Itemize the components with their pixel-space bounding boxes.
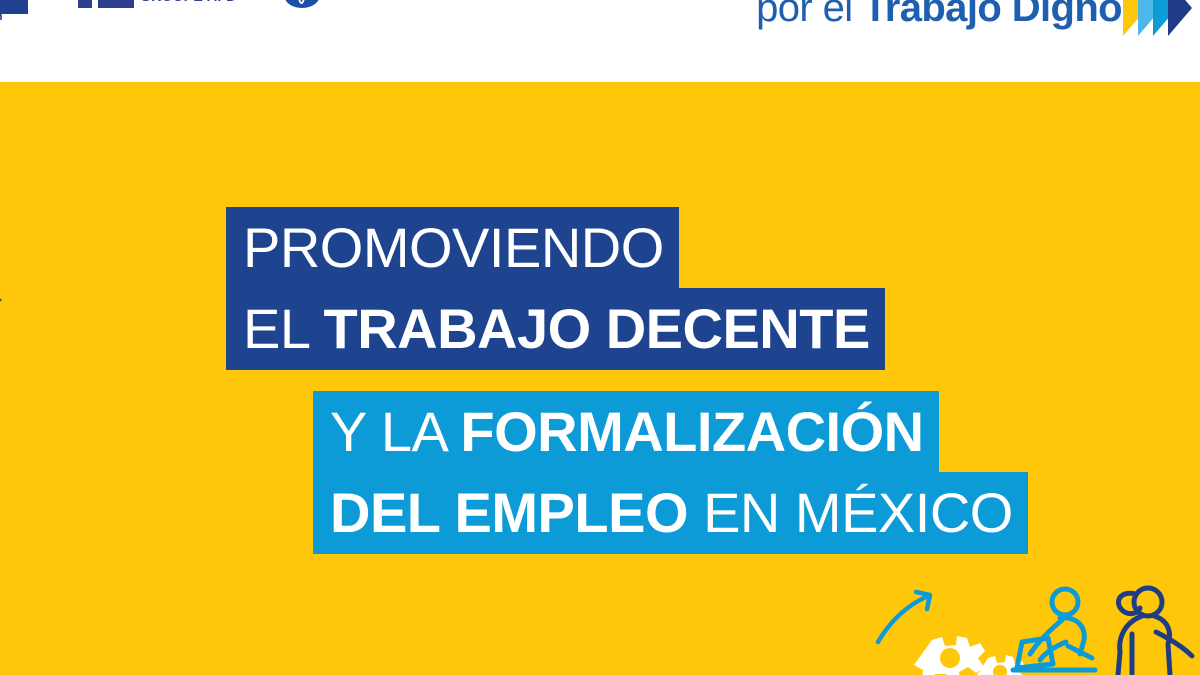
growth-arrow-icon xyxy=(878,592,930,642)
headline-line-2: EL TRABAJO DECENTE xyxy=(226,288,885,370)
headline-line-2-light: EL xyxy=(243,297,323,360)
subhead-line-1-light: Y LA xyxy=(330,400,460,463)
subhead-line-2-bold: DEL EMPLEO xyxy=(330,481,703,544)
afd-logo-label: GROUPE AFD xyxy=(140,0,237,4)
headline-line-1: PROMOVIENDO xyxy=(226,207,679,289)
campaign-text-light: por el xyxy=(756,0,863,30)
subhead-line-1: Y LA FORMALIZACIÓN xyxy=(313,391,939,473)
headline-line-2-bold: TRABAJO DECENTE xyxy=(323,297,869,360)
subhead-line-2-light: EN MÉXICO xyxy=(703,481,1013,544)
subhead-line-2: DEL EMPLEO EN MÉXICO xyxy=(313,472,1028,554)
por-el-trabajo-digno-logo: por el Trabajo Digno xyxy=(756,0,1192,36)
subhead-line-1-bold: FORMALIZACIÓN xyxy=(460,400,923,463)
cooperacion-logo-label: COOPERACIÓN ESPAÑOLA xyxy=(341,0,497,3)
gear-small-icon xyxy=(975,655,1025,675)
cooperacion-emblem-icon xyxy=(285,0,319,8)
slide-body: PROMOVIENDO EL TRABAJO DECENTE Y LA FORM… xyxy=(0,82,1200,675)
eu-flag-icon xyxy=(0,0,28,14)
campaign-text-bold: Trabajo Digno xyxy=(863,0,1122,30)
eu-logo-label: nion xyxy=(0,11,3,23)
workers-gears-arrow-illustration xyxy=(870,580,1200,675)
headline-block: PROMOVIENDO EL TRABAJO DECENTE xyxy=(226,207,885,370)
seated-worker-with-laptop-icon xyxy=(1013,589,1095,670)
subhead-block: Y LA FORMALIZACIÓN DEL EMPLEO EN MÉXICO xyxy=(313,391,1028,554)
presentation-slide: nion GROUPE AFD COOPERACIÓN ESPAÑOLA por… xyxy=(0,0,1200,675)
chevron-4-icon xyxy=(1168,0,1192,36)
standing-worker-ponytail-icon xyxy=(1118,588,1192,675)
afd-mark-square-large xyxy=(98,0,134,8)
afd-mark-square-small xyxy=(78,0,92,8)
headline-line-1-text: PROMOVIENDO xyxy=(243,216,664,279)
left-edge-chevron-icon xyxy=(0,287,2,313)
campaign-wordmark: por el Trabajo Digno xyxy=(756,0,1122,28)
campaign-chevrons-icon xyxy=(1132,0,1192,36)
gear-icon xyxy=(914,636,985,675)
slide-header: nion GROUPE AFD COOPERACIÓN ESPAÑOLA por… xyxy=(0,0,1200,82)
